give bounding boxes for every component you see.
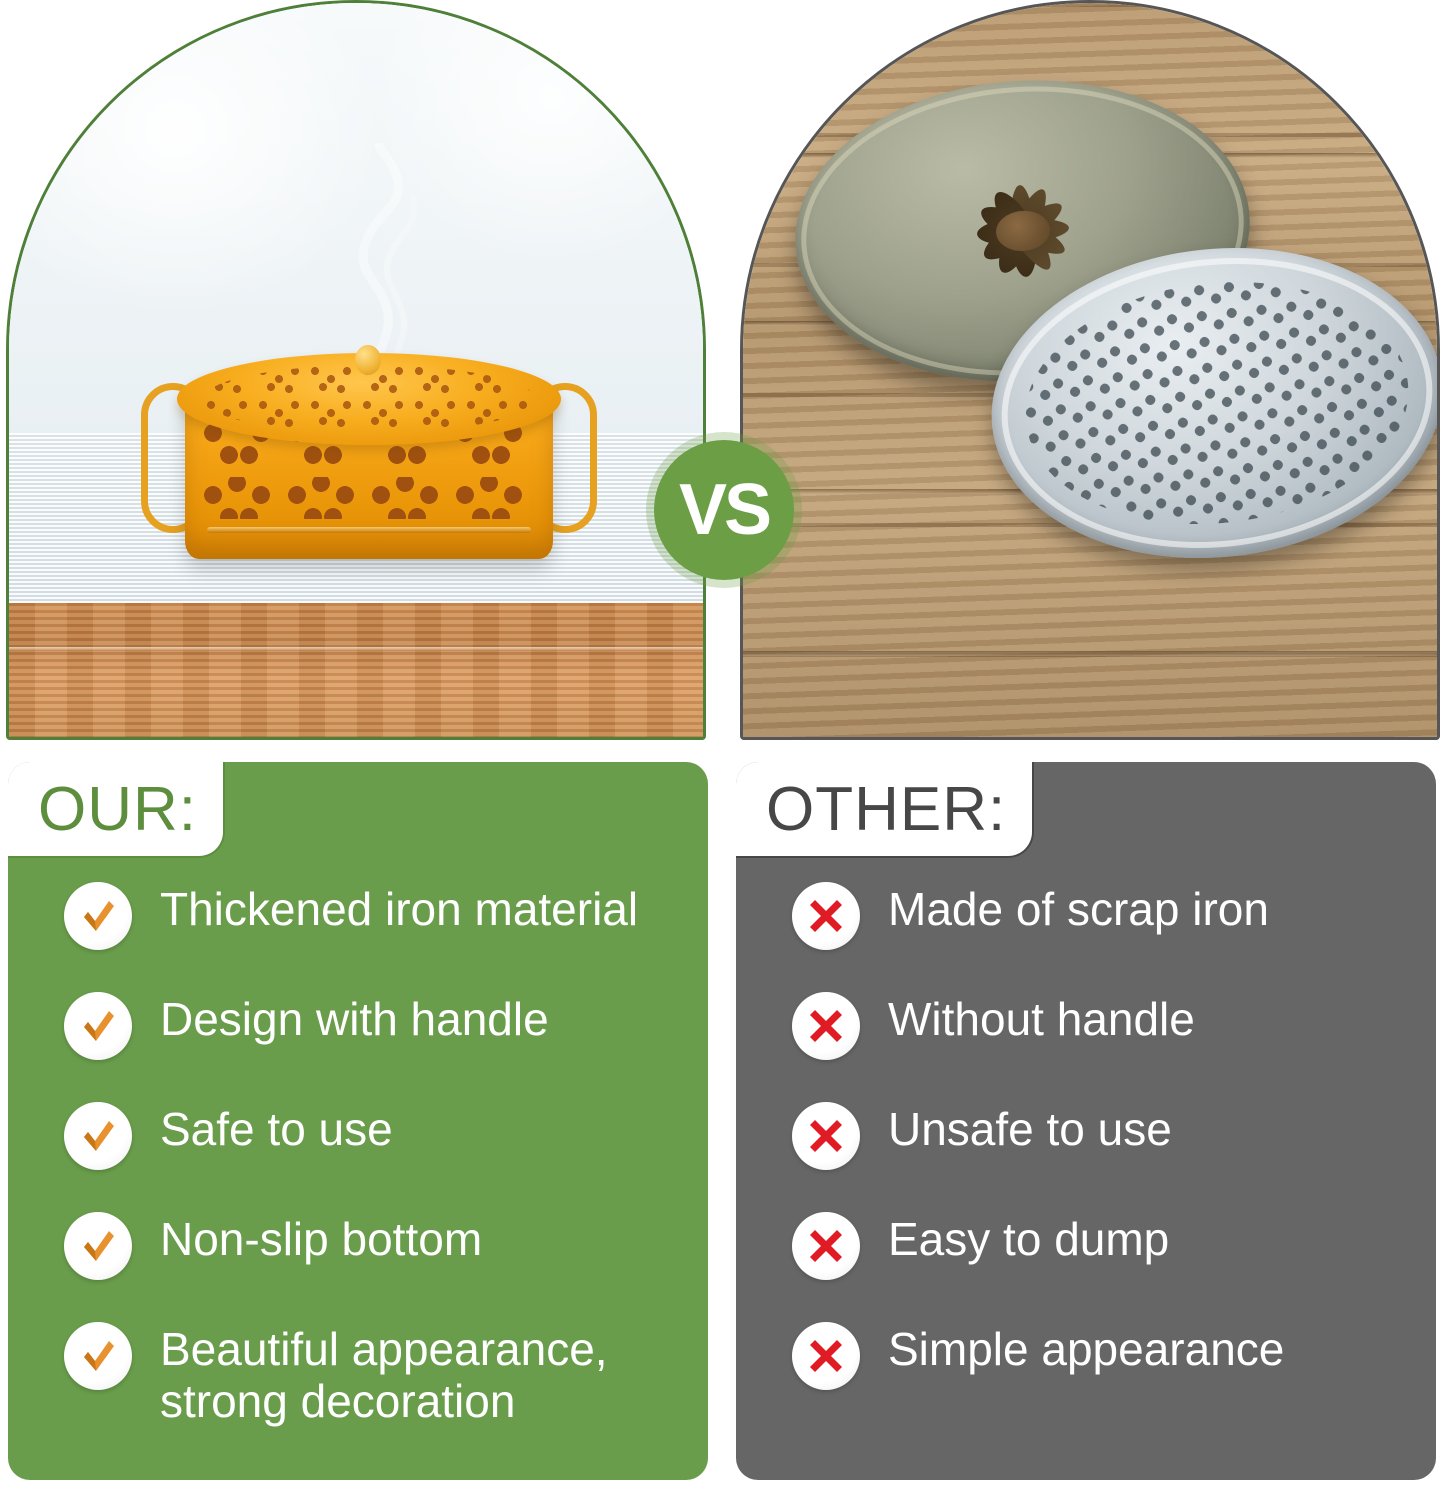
check-icon — [64, 882, 132, 950]
our-feature-list: Thickened iron material Design with hand… — [8, 880, 708, 1427]
our-panel-tag: OUR: — [8, 762, 225, 858]
holder-band — [207, 527, 531, 533]
feature-label: Non-slip bottom — [160, 1210, 482, 1266]
check-icon — [64, 1322, 132, 1390]
lid-knob — [355, 345, 381, 375]
check-icon — [64, 992, 132, 1060]
list-item: Non-slip bottom — [8, 1210, 708, 1280]
list-item: Beautiful appearance, strong decoration — [8, 1320, 708, 1427]
plank-seam — [743, 651, 1437, 656]
other-product-photo — [740, 0, 1440, 740]
list-item: Easy to dump — [736, 1210, 1436, 1280]
feature-label: Safe to use — [160, 1100, 393, 1156]
cross-icon — [792, 1102, 860, 1170]
feature-label: Design with handle — [160, 990, 549, 1046]
feature-label: Simple appearance — [888, 1320, 1284, 1376]
list-item: Thickened iron material — [8, 880, 708, 950]
other-features-panel: OTHER: Made of scrap iron Without handle — [736, 762, 1436, 1480]
cross-icon — [792, 992, 860, 1060]
feature-label: Made of scrap iron — [888, 880, 1269, 936]
feature-label: Unsafe to use — [888, 1100, 1172, 1156]
other-panel-tag: OTHER: — [736, 762, 1034, 858]
list-item: Made of scrap iron — [736, 880, 1436, 950]
studio-scene-background — [9, 3, 703, 737]
other-feature-list: Made of scrap iron Without handle Unsafe… — [736, 880, 1436, 1390]
list-item: Simple appearance — [736, 1320, 1436, 1390]
feature-label: Thickened iron material — [160, 880, 638, 936]
cross-icon — [792, 1322, 860, 1390]
feature-label: Easy to dump — [888, 1210, 1169, 1266]
our-features-panel: OUR: Thickened iron material Design with… — [8, 762, 708, 1480]
wooden-plank-background — [743, 3, 1437, 737]
list-item: Safe to use — [8, 1100, 708, 1170]
list-item: Without handle — [736, 990, 1436, 1060]
cross-icon — [792, 882, 860, 950]
check-icon — [64, 1212, 132, 1280]
yellow-coil-holder — [159, 339, 579, 599]
cross-icon — [792, 1212, 860, 1280]
vs-badge: VS — [654, 440, 794, 580]
list-item: Unsafe to use — [736, 1100, 1436, 1170]
list-item: Design with handle — [8, 990, 708, 1060]
feature-label: Beautiful appearance, strong decoration — [160, 1320, 608, 1427]
lid-perforations — [203, 365, 535, 433]
feature-label: Without handle — [888, 990, 1195, 1046]
product-comparison-photos: VS — [0, 0, 1445, 742]
wooden-table-edge — [9, 603, 703, 737]
check-icon — [64, 1102, 132, 1170]
our-product-photo — [6, 0, 706, 740]
